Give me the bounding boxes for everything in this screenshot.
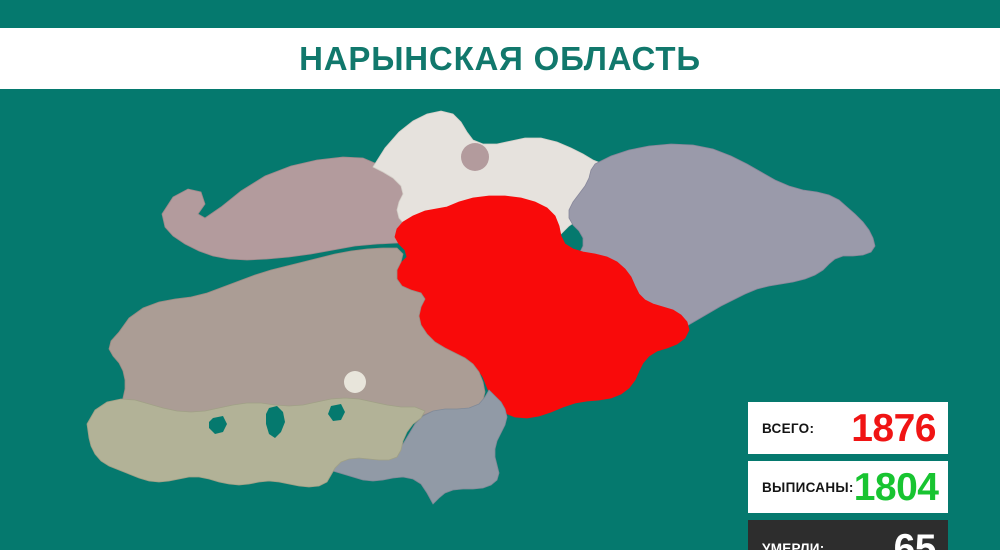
stat-label-recovered: ВЫПИСАНЫ:: [762, 480, 854, 495]
stats-panel: ВСЕГО: 1876 ВЫПИСАНЫ: 1804 УМЕРЛИ: 65: [748, 402, 948, 550]
stat-row-died: УМЕРЛИ: 65: [748, 520, 948, 550]
stat-label-total: ВСЕГО:: [762, 421, 814, 436]
top-accent-bar: [0, 0, 1000, 28]
stat-row-recovered: ВЫПИСАНЫ: 1804: [748, 461, 948, 513]
map-area: ВСЕГО: 1876 ВЫПИСАНЫ: 1804 УМЕРЛИ: 65: [0, 89, 1000, 550]
stat-value-died: 65: [894, 529, 936, 550]
city-marker-bishkek[interactable]: [461, 143, 489, 171]
stat-label-died: УМЕРЛИ:: [762, 541, 825, 550]
title-band: НАРЫНСКАЯ ОБЛАСТЬ: [0, 28, 1000, 89]
stat-row-total: ВСЕГО: 1876: [748, 402, 948, 454]
city-marker-osh[interactable]: [344, 371, 366, 393]
page-title: НАРЫНСКАЯ ОБЛАСТЬ: [299, 42, 701, 75]
infographic-page: НАРЫНСКАЯ ОБЛАСТЬ: [0, 0, 1000, 550]
stat-value-recovered: 1804: [854, 468, 939, 507]
stat-value-total: 1876: [851, 409, 936, 448]
